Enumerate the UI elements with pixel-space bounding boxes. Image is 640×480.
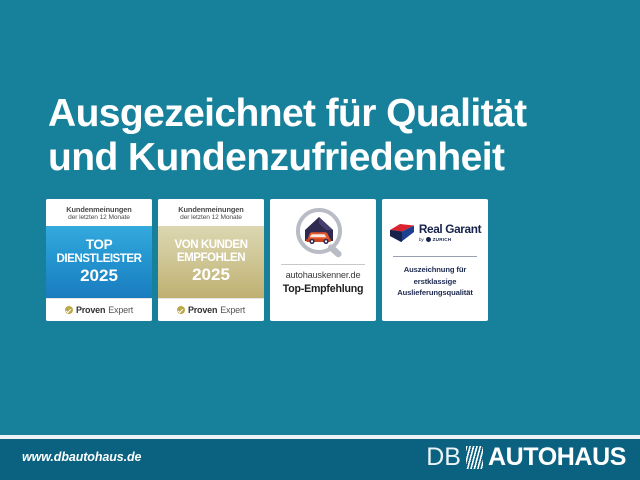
real-garant-award-text: Auszeichnung für erstklassige Auslieferu… bbox=[397, 264, 473, 299]
badge-body: TOP DIENSTLEISTER 2025 bbox=[46, 226, 152, 298]
page-title: Ausgezeichnet für Qualität und Kundenzuf… bbox=[48, 92, 608, 180]
badge-header-line-1: Kundenmeinungen bbox=[66, 205, 131, 214]
brand-main: AUTOHAUS bbox=[488, 445, 626, 470]
byline-by: by bbox=[419, 237, 424, 242]
badge-header-line-1: Kundenmeinungen bbox=[178, 205, 243, 214]
badge-header: Kundenmeinungen der letzten 12 Monate bbox=[46, 199, 152, 226]
brand-prefix: DB bbox=[426, 445, 461, 470]
badge-title-line-2: DIENSTLEISTER bbox=[57, 252, 142, 265]
autohauskenner-domain: autohauskenner.de bbox=[286, 270, 361, 282]
real-garant-chevron-icon bbox=[389, 223, 415, 243]
badge-footer: Proven Expert bbox=[46, 298, 152, 321]
real-garant-logo: Real Garant by ZURICH bbox=[389, 223, 481, 243]
divider bbox=[393, 256, 477, 257]
badge-von-kunden-empfohlen[interactable]: Kundenmeinungen der letzten 12 Monate VO… bbox=[158, 199, 264, 321]
badge-header-line-2: der letzten 12 Monate bbox=[180, 214, 242, 222]
headline-line-1: Ausgezeichnet für Qualität bbox=[48, 92, 526, 135]
award-text-line-2: erstklassige bbox=[397, 276, 473, 288]
promo-banner: Ausgezeichnet für Qualität und Kundenzuf… bbox=[0, 0, 640, 480]
headline-line-2: und Kundenzufriedenheit bbox=[48, 136, 608, 180]
badge-year: 2025 bbox=[192, 265, 230, 285]
badge-title-line-2: EMPFOHLEN bbox=[177, 251, 245, 264]
provenexpert-regular: Expert bbox=[220, 305, 245, 315]
divider bbox=[281, 264, 365, 265]
badge-real-garant[interactable]: Real Garant by ZURICH Auszeichnung für e… bbox=[382, 199, 488, 321]
badge-header-line-2: der letzten 12 Monate bbox=[68, 214, 130, 222]
zurich-mark-icon bbox=[426, 237, 431, 242]
real-garant-wordmark: Real Garant by ZURICH bbox=[419, 224, 481, 243]
award-text-line-1: Auszeichnung für bbox=[397, 264, 473, 276]
badge-title-line-1: TOP bbox=[86, 237, 113, 252]
footer-bar: www.dbautohaus.de DB AUTOHAUS bbox=[0, 439, 640, 480]
byline-parent: ZURICH bbox=[433, 237, 452, 242]
stripes-icon bbox=[466, 446, 483, 469]
provenexpert-bold: Proven bbox=[188, 305, 217, 315]
real-garant-byline: by ZURICH bbox=[419, 237, 451, 242]
badge-title-line-1: VON KUNDEN bbox=[175, 238, 248, 251]
badge-footer: Proven Expert bbox=[158, 298, 264, 321]
badge-header: Kundenmeinungen der letzten 12 Monate bbox=[158, 199, 264, 226]
award-text-line-3: Auslieferungsqualität bbox=[397, 287, 473, 299]
real-garant-name: Real Garant bbox=[419, 224, 481, 236]
award-badge-list: Kundenmeinungen der letzten 12 Monate TO… bbox=[46, 199, 488, 321]
autohauskenner-recommendation: Top-Empfehlung bbox=[283, 282, 364, 296]
badge-year: 2025 bbox=[80, 266, 118, 286]
badge-autohauskenner[interactable]: autohauskenner.de Top-Empfehlung bbox=[270, 199, 376, 321]
magnifier-house-car-icon bbox=[295, 208, 351, 260]
db-autohaus-logo[interactable]: DB AUTOHAUS bbox=[426, 445, 626, 470]
badge-top-dienstleister[interactable]: Kundenmeinungen der letzten 12 Monate TO… bbox=[46, 199, 152, 321]
website-url[interactable]: www.dbautohaus.de bbox=[22, 450, 141, 464]
check-circle-icon bbox=[177, 306, 185, 314]
provenexpert-bold: Proven bbox=[76, 305, 105, 315]
badge-body: VON KUNDEN EMPFOHLEN 2025 bbox=[158, 226, 264, 298]
check-circle-icon bbox=[65, 306, 73, 314]
provenexpert-regular: Expert bbox=[108, 305, 133, 315]
